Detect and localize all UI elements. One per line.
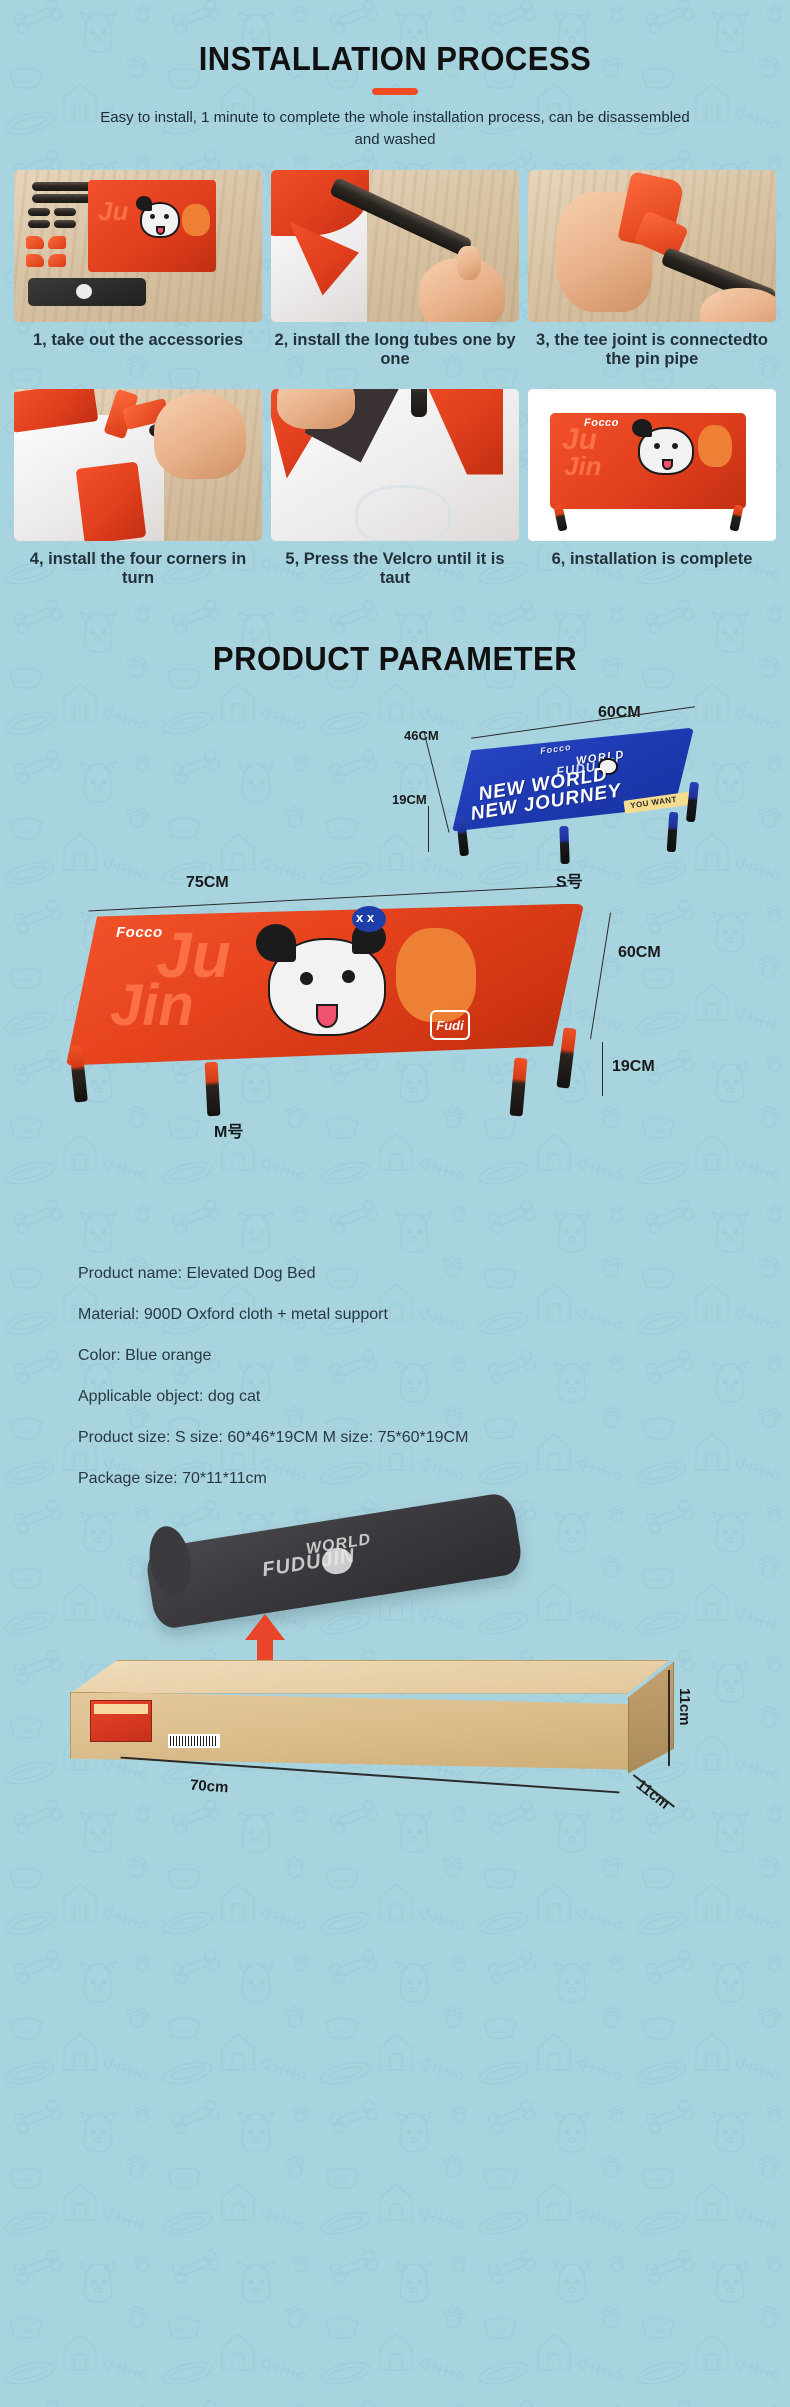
spec-key: Product name: [78,1265,182,1282]
spec-key: Color: [78,1347,121,1364]
product-spec-list: Product name: Elevated Dog Bed Material:… [0,1250,790,1489]
step-1-caption: 1, take out the accessories [31,331,245,377]
spec-row: Applicable object: dog cat [78,1387,790,1407]
install-step-6: Ju Jin Focco 6, installation is complete [528,389,776,596]
step-6-photo: Ju Jin Focco [528,389,776,541]
installation-steps-grid: Ju 1, take out the accessories [0,170,790,596]
spec-row: Product size: S size: 60*46*19CM M size:… [78,1428,790,1448]
bed-m-dim-depth: 60CM [618,944,661,962]
spec-key: Applicable object: [78,1388,203,1405]
packaging-area: WORLD FUDUJIN 70cm 11cm 11cm [0,1510,790,1940]
step-2-caption: 2, install the long tubes one by one [271,331,519,377]
step-3-photo [528,170,776,322]
carton-dim-length: 70cm [189,1776,228,1796]
bed-s-dim-height: 19CM [392,792,427,807]
installation-title: INSTALLATION PROCESS [24,40,767,78]
spec-value: 900D Oxford cloth + metal support [144,1306,388,1323]
spec-row: Color: Blue orange [78,1346,790,1366]
bed-m-size-tag: M号 [214,1118,243,1142]
step-1-photo: Ju [14,170,262,322]
title-divider [372,88,418,95]
bed-diagram-area: Focco WORLD FUDUJIN NEW WORLD NEW JOURNE… [0,690,790,1250]
install-step-2: 2, install the long tubes one by one [271,170,519,377]
spec-row: Material: 900D Oxford cloth + metal supp… [78,1305,790,1325]
step-5-caption: 5, Press the Velcro until it is taut [271,550,519,596]
bed-s-dim-depth: 46CM [404,728,439,743]
spec-row: Product name: Elevated Dog Bed [78,1264,790,1284]
bed-s-size-tag: S号 [556,868,583,892]
carton-dim-height: 11cm [676,1688,693,1726]
step-3-caption: 3, the tee joint is connectedto the pin … [528,331,776,377]
bed-m-dim-width: 75CM [186,874,229,892]
spec-value: Elevated Dog Bed [187,1265,316,1282]
spec-row: Package size: 70*11*11cm [78,1469,790,1489]
spec-value: dog cat [208,1388,260,1405]
step-6-caption: 6, installation is complete [550,550,755,596]
spec-key: Product size: [78,1429,170,1446]
step-4-photo [14,389,262,541]
step-4-caption: 4, install the four corners in turn [14,550,262,596]
install-step-3: 3, the tee joint is connectedto the pin … [528,170,776,377]
carton-dim-depth: 11cm [633,1776,673,1813]
install-step-5: 5, Press the Velcro until it is taut [271,389,519,596]
spec-key: Package size: [78,1470,178,1487]
install-step-4: 4, install the four corners in turn [14,389,262,596]
install-step-1: Ju 1, take out the accessories [14,170,262,377]
bed-s-dim-width: 60CM [598,704,641,722]
step-5-photo [271,389,519,541]
parameter-title: PRODUCT PARAMETER [24,640,767,678]
spec-value: S size: 60*46*19CM M size: 75*60*19CM [175,1429,468,1446]
spec-value: Blue orange [125,1347,211,1364]
spec-value: 70*11*11cm [182,1470,267,1487]
bed-m-badge-fudi: Fudi [430,1010,470,1040]
spec-key: Material: [78,1306,139,1323]
step-2-photo [271,170,519,322]
bed-m-dim-height: 19CM [612,1058,655,1076]
installation-subtitle: Easy to install, 1 minute to complete th… [0,107,790,151]
